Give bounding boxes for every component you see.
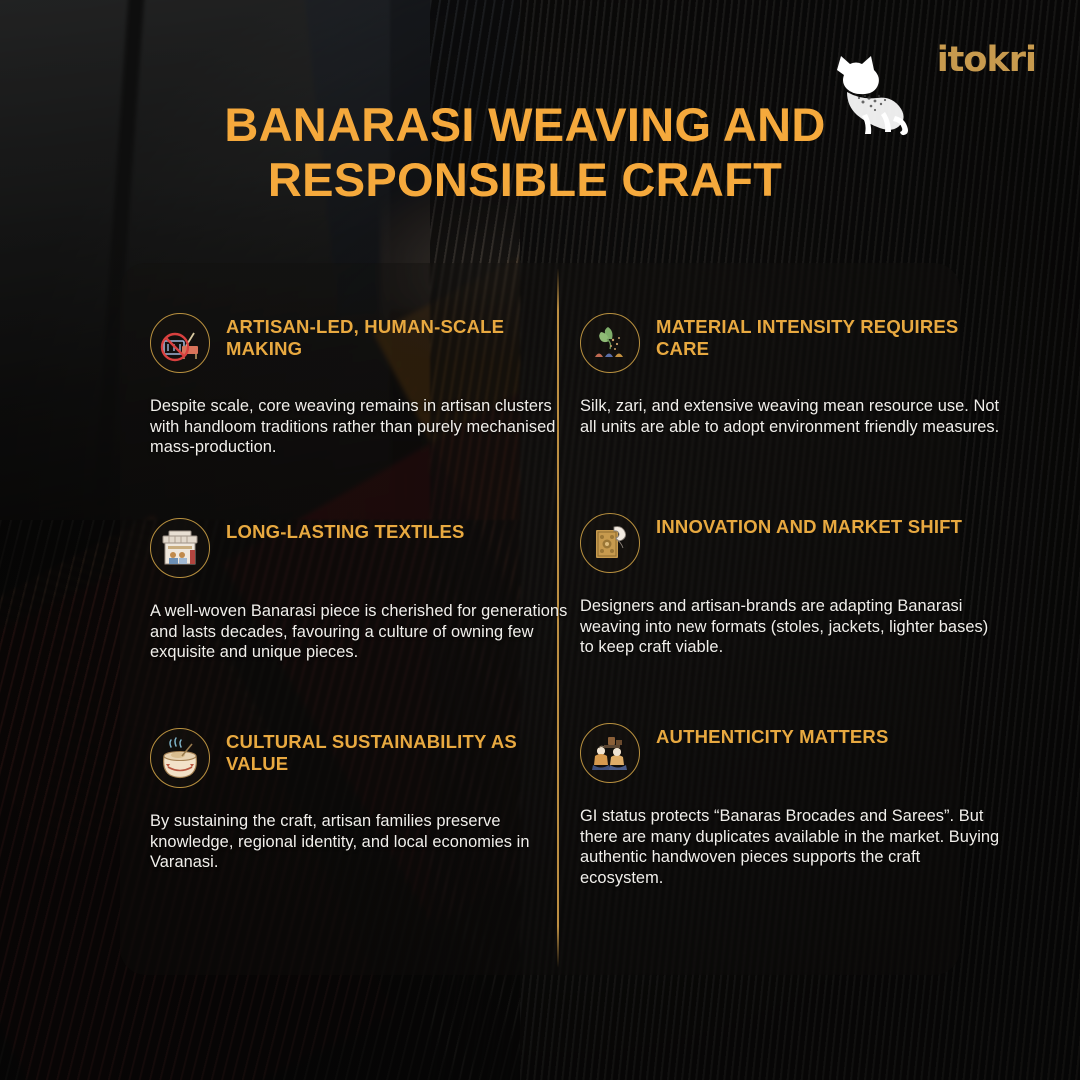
cards-grid: ARTISAN-LED, HUMAN-SCALE MAKING Despite … (120, 263, 960, 975)
card-header: AUTHENTICITY MATTERS (580, 721, 1000, 783)
brand-logo-text: itokri (937, 40, 1036, 80)
craft-shop-icon (150, 518, 210, 578)
card-cultural-sustainability: CULTURAL SUSTAINABILITY AS VALUE By sust… (150, 726, 570, 873)
card-body: GI status protects “Banaras Brocades and… (580, 806, 1000, 889)
card-title: AUTHENTICITY MATTERS (656, 721, 889, 748)
page-title-line2: RESPONSIBLE CRAFT (90, 153, 960, 208)
natural-dye-leaves-icon (580, 313, 640, 373)
card-header: MATERIAL INTENSITY REQUIRES CARE (580, 311, 1000, 373)
card-body: A well-woven Banarasi piece is cherished… (150, 601, 570, 663)
cat-illustration-icon (823, 52, 915, 141)
card-body: Despite scale, core weaving remains in a… (150, 396, 570, 458)
card-body: By sustaining the craft, artisan familie… (150, 811, 570, 873)
page-title-line1: BANARASI WEAVING AND (224, 98, 825, 151)
card-header: ARTISAN-LED, HUMAN-SCALE MAKING (150, 311, 570, 373)
page-title: BANARASI WEAVING AND RESPONSIBLE CRAFT (0, 98, 1080, 207)
card-header: CULTURAL SUSTAINABILITY AS VALUE (150, 726, 570, 788)
card-innovation-market-shift: INNOVATION AND MARKET SHIFT Designers an… (580, 511, 1000, 658)
infographic-canvas: BANARASI WEAVING AND RESPONSIBLE CRAFT i… (0, 0, 1080, 1080)
card-artisan-led: ARTISAN-LED, HUMAN-SCALE MAKING Despite … (150, 311, 570, 458)
card-title: LONG-LASTING TEXTILES (226, 516, 465, 543)
card-long-lasting-textiles: LONG-LASTING TEXTILES A well-woven Banar… (150, 516, 570, 663)
no-mass-production-icon (150, 313, 210, 373)
card-title: MATERIAL INTENSITY REQUIRES CARE (656, 311, 1000, 360)
card-header: INNOVATION AND MARKET SHIFT (580, 511, 1000, 573)
two-artisans-icon (580, 723, 640, 783)
card-body: Silk, zari, and extensive weaving mean r… (580, 396, 1000, 437)
brand-logo[interactable]: itokri (937, 40, 1036, 80)
card-title: INNOVATION AND MARKET SHIFT (656, 511, 962, 538)
card-authenticity-matters: AUTHENTICITY MATTERS GI status protects … (580, 721, 1000, 889)
steaming-pot-icon (150, 728, 210, 788)
hand-holding-fabric-icon (580, 513, 640, 573)
card-title: CULTURAL SUSTAINABILITY AS VALUE (226, 726, 570, 775)
card-body: Designers and artisan-brands are adaptin… (580, 596, 1000, 658)
card-header: LONG-LASTING TEXTILES (150, 516, 570, 578)
card-material-intensity: MATERIAL INTENSITY REQUIRES CARE Silk, z… (580, 311, 1000, 437)
card-title: ARTISAN-LED, HUMAN-SCALE MAKING (226, 311, 570, 360)
